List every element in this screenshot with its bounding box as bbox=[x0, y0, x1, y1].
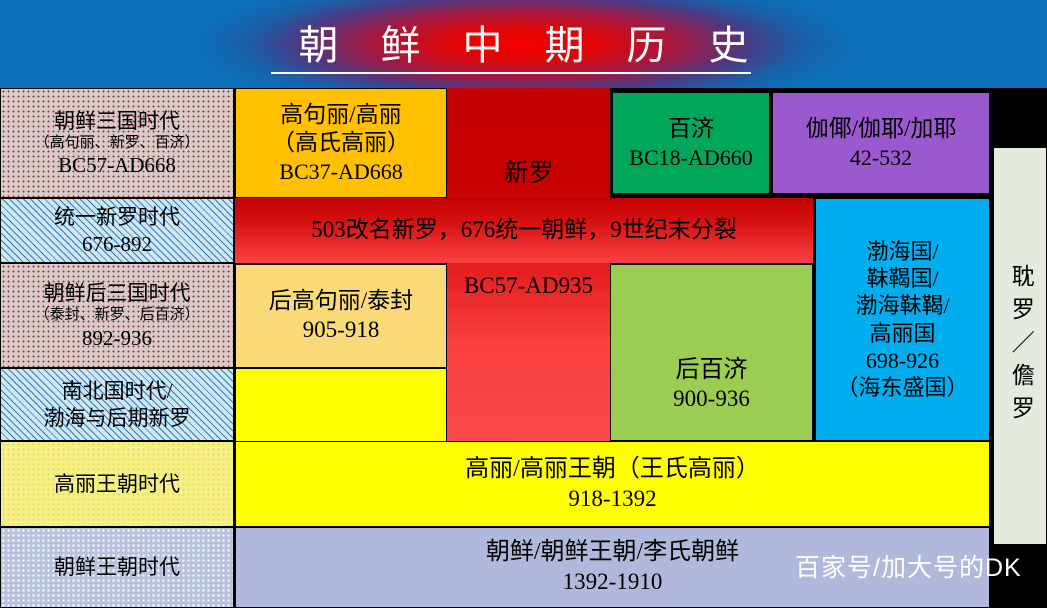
goryeo-line2: 918-1392 bbox=[568, 485, 656, 514]
era-years: BC57-AD668 bbox=[58, 152, 176, 178]
era-sub: （泰封、新罗、后百济） bbox=[34, 306, 199, 325]
watermark: 百家号/加大号的DK bbox=[795, 548, 1022, 584]
era-name: 朝鲜三国时代 bbox=[54, 108, 180, 134]
title-underline bbox=[271, 72, 751, 74]
hubaekje-line1: 后百济 bbox=[676, 356, 748, 386]
goryeo-line1: 高丽/高丽王朝（王氏高丽） bbox=[465, 455, 760, 485]
silla-note-band: 503改名新罗，676统一朝鲜，9世纪末分裂 bbox=[235, 198, 813, 263]
state-block-tamna: 耽罗／儋罗 bbox=[993, 147, 1047, 545]
era-name: 高丽王朝时代 bbox=[54, 471, 180, 497]
era-row-unified-silla: 统一新罗时代 676-892 bbox=[0, 198, 234, 263]
goryeo-filler-row4 bbox=[235, 368, 447, 441]
page-title: 朝 鲜 中 期 历 史 bbox=[0, 0, 1047, 88]
baekje-line1: 百济 bbox=[668, 115, 714, 144]
state-block-baekje: 百济 BC18-AD660 bbox=[612, 92, 770, 194]
title-banner: 朝 鲜 中 期 历 史 bbox=[0, 0, 1047, 88]
state-block-balhae: 渤海国/ 靺鞨国/ 渤海靺鞨/ 高丽国 698-926 （海东盛国） bbox=[815, 198, 990, 441]
state-block-gaya: 伽倻/伽耶/加耶 42-532 bbox=[772, 92, 990, 194]
black-block-top-right bbox=[990, 88, 1047, 146]
balhae-line6: （海东盛国） bbox=[836, 374, 968, 401]
balhae-line4: 高丽国 bbox=[869, 320, 935, 347]
era-name: 南北国时代/ bbox=[62, 378, 173, 404]
balhae-line2: 靺鞨国/ bbox=[866, 265, 938, 292]
goguryeo-line1: 高句丽/高丽 bbox=[280, 101, 401, 130]
era-name: 统一新罗时代 bbox=[54, 204, 180, 230]
tamna-label: 耽罗／儋罗 bbox=[1006, 264, 1035, 429]
silla-note: 503改名新罗，676统一朝鲜，9世纪末分裂 bbox=[311, 216, 737, 245]
era-row-north-south-states: 南北国时代/ 渤海与后期新罗 bbox=[0, 368, 234, 441]
gaya-line2: 42-532 bbox=[850, 144, 912, 171]
state-block-goryeo: 高丽/高丽王朝（王氏高丽） 918-1392 bbox=[235, 441, 990, 527]
era-row-goryeo: 高丽王朝时代 bbox=[0, 441, 234, 527]
hubaekje-line2: 900-936 bbox=[673, 385, 750, 414]
era-name: 朝鲜后三国时代 bbox=[44, 280, 191, 306]
era-row-later-three-kingdoms: 朝鲜后三国时代 （泰封、新罗、后百济） 892-936 bbox=[0, 263, 234, 368]
balhae-line3: 渤海靺鞨/ bbox=[855, 292, 949, 319]
balhae-line5: 698-926 bbox=[866, 347, 939, 374]
gaya-line1: 伽倻/伽耶/加耶 bbox=[806, 115, 957, 144]
state-block-goguryeo: 高句丽/高丽 （高氏高丽） BC37-AD668 bbox=[235, 88, 447, 198]
silla-years: BC57-AD935 bbox=[447, 263, 610, 309]
era-years: 676-892 bbox=[82, 231, 152, 257]
era-years: 892-936 bbox=[82, 325, 152, 351]
timeline-chart: 朝 鲜 中 期 历 史 朝鲜三国时代 （高句丽、新罗、百济） BC57-AD66… bbox=[0, 0, 1047, 608]
taebong-line2: 905-918 bbox=[303, 316, 380, 345]
state-block-taebong: 后高句丽/泰封 905-918 bbox=[235, 264, 447, 368]
goguryeo-line3: BC37-AD668 bbox=[279, 158, 402, 185]
era-row-three-kingdoms: 朝鲜三国时代 （高句丽、新罗、百济） BC57-AD668 bbox=[0, 88, 234, 198]
joseon-line2: 1392-1910 bbox=[563, 568, 663, 597]
balhae-line1: 渤海国/ bbox=[866, 238, 938, 265]
goguryeo-line2: （高氏高丽） bbox=[272, 129, 410, 158]
baekje-line2: BC18-AD660 bbox=[629, 144, 752, 171]
taebong-line1: 后高句丽/泰封 bbox=[269, 287, 413, 316]
era-sub: （高句丽、新罗、百济） bbox=[34, 134, 199, 153]
era-name: 朝鲜王朝时代 bbox=[54, 554, 180, 580]
era-sub: 渤海与后期新罗 bbox=[44, 405, 191, 431]
joseon-line1: 朝鲜/朝鲜王朝/李氏朝鲜 bbox=[486, 538, 739, 568]
state-block-hubaekje: 后百济 900-936 bbox=[610, 264, 813, 441]
era-row-joseon: 朝鲜王朝时代 bbox=[0, 527, 234, 608]
silla-label: 新罗 bbox=[503, 158, 553, 189]
